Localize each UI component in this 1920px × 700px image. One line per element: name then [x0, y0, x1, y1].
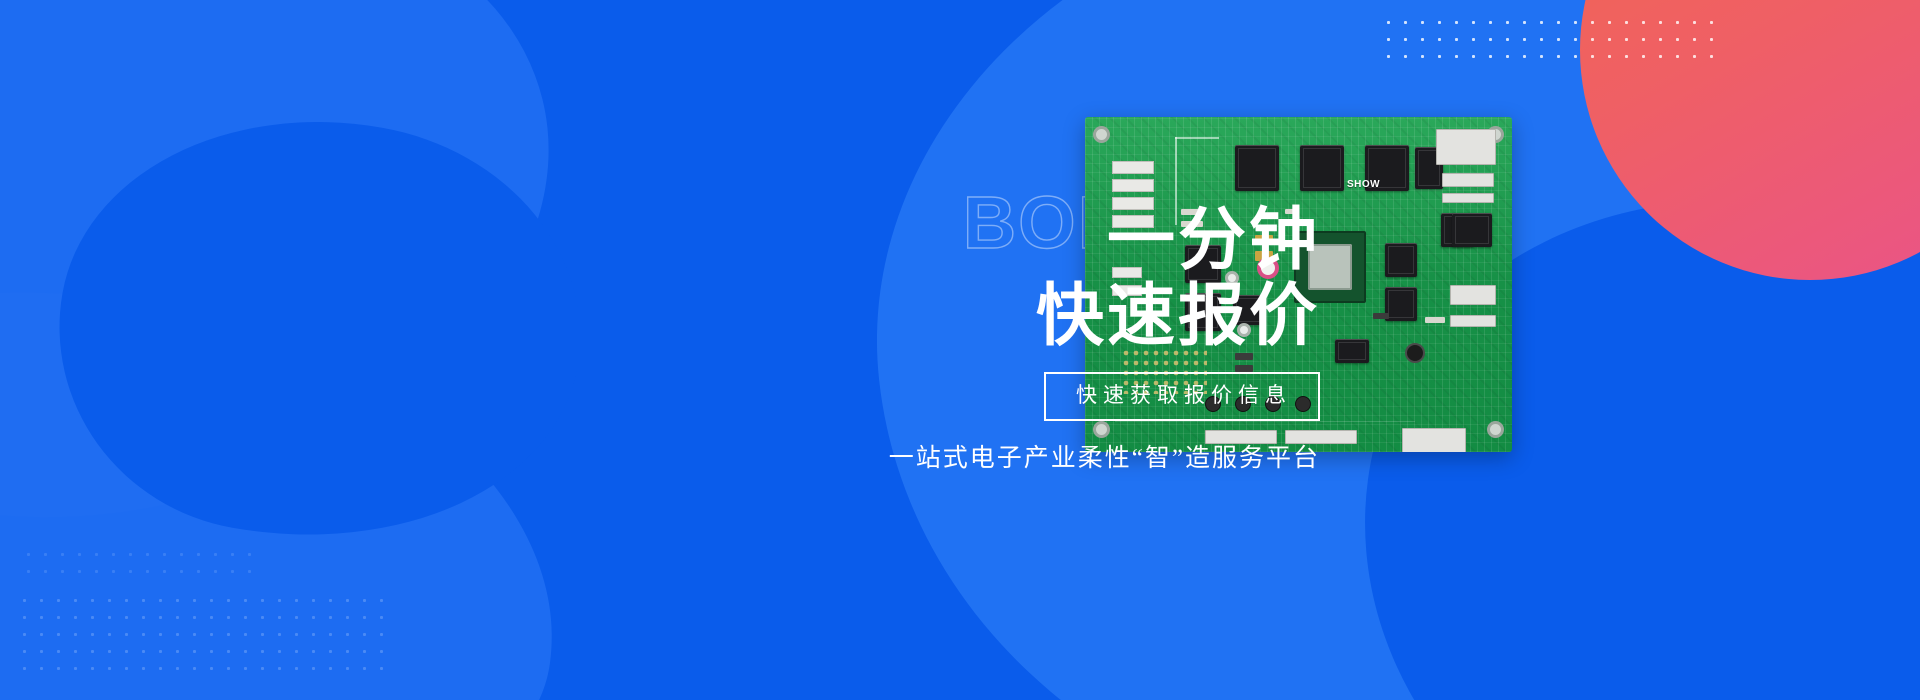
electrolytic-capacitor: [1405, 343, 1425, 363]
ic-chip: [1335, 339, 1369, 363]
headline-line-1: 一分钟: [680, 202, 1320, 278]
smd-capacitor: [1235, 365, 1253, 372]
ic-chip: [1385, 287, 1417, 321]
header-connector: [1442, 193, 1494, 203]
headline: 一分钟 快速报价: [680, 150, 1320, 354]
cta-button[interactable]: 快速获取报价信息: [1044, 372, 1320, 420]
sim-slot: [1436, 129, 1496, 165]
subtitle: 一站式电子产业柔性“智”造服务平台: [680, 438, 1320, 474]
headline-line-2: 快速报价: [680, 278, 1320, 354]
mounting-pad: [1093, 421, 1110, 438]
smd-capacitor: [1373, 313, 1389, 319]
dot-grid-bottom-left-secondary: [20, 546, 260, 582]
dot-grid-top-right: [1380, 14, 1720, 70]
silkscreen-line: [1175, 137, 1219, 139]
mounting-pad: [1487, 421, 1504, 438]
promo-banner: BOMBOM 一分钟 快速报价 快速获取报价信息 一站式电子产业柔性“智”造服务…: [0, 0, 1920, 700]
header-connector: [1450, 315, 1496, 327]
header-connector: [1450, 285, 1496, 305]
board-silkscreen-logo: SHOW: [1347, 179, 1380, 190]
header-connector: [1442, 173, 1494, 187]
smd-resistor: [1425, 317, 1445, 323]
ic-chip: [1452, 213, 1492, 247]
io-bracket: [1402, 428, 1466, 452]
silkscreen-line: [1115, 421, 1415, 422]
dot-grid-bottom-left: [16, 592, 396, 682]
ic-chip: [1385, 243, 1417, 277]
cta-row: 快速获取报价信息: [680, 372, 1320, 420]
mounting-pad: [1093, 126, 1110, 143]
